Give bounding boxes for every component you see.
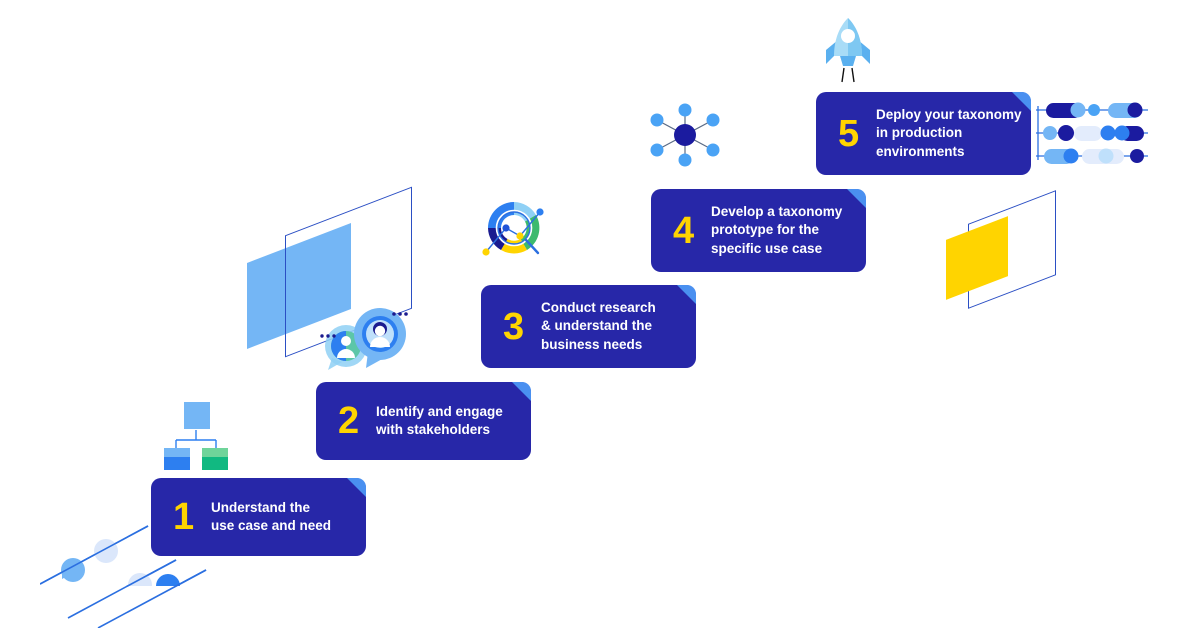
network-node-icon xyxy=(645,100,725,175)
pipeline-beads-icon xyxy=(1036,98,1148,173)
step-number: 4 xyxy=(673,212,707,250)
folded-corner-icon xyxy=(1012,92,1031,111)
step-number: 2 xyxy=(338,402,372,440)
step-text: Identify and engage with stakeholders xyxy=(376,403,503,439)
step-card-4[interactable]: 4Develop a taxonomy prototype for the sp… xyxy=(651,189,866,272)
folded-corner-icon xyxy=(512,382,531,401)
org-chart-icon xyxy=(160,398,232,475)
step-number: 1 xyxy=(173,498,207,536)
folded-corner-icon xyxy=(847,189,866,208)
step-card-3[interactable]: 3Conduct research & understand the busin… xyxy=(481,285,696,368)
step-text: Conduct research & understand the busine… xyxy=(541,299,656,354)
step-number: 5 xyxy=(838,115,872,153)
step-text: Deploy your taxonomy in production envir… xyxy=(876,106,1022,161)
step-card-5[interactable]: 5Deploy your taxonomy in production envi… xyxy=(816,92,1031,175)
step-card-1[interactable]: 1Understand the use case and need xyxy=(151,478,366,556)
infographic-canvas: 1Understand the use case and need2Identi… xyxy=(0,0,1200,628)
step-text: Develop a taxonomy prototype for the spe… xyxy=(711,203,842,258)
step-text: Understand the use case and need xyxy=(211,499,331,535)
rocket-icon xyxy=(818,14,878,89)
step-card-2[interactable]: 2Identify and engage with stakeholders xyxy=(316,382,531,460)
folded-corner-icon xyxy=(347,478,366,497)
folded-corner-icon xyxy=(677,285,696,304)
chat-avatars-icon xyxy=(320,300,412,375)
step-number: 3 xyxy=(503,308,537,346)
donut-chart-magnifier-icon xyxy=(478,196,560,273)
